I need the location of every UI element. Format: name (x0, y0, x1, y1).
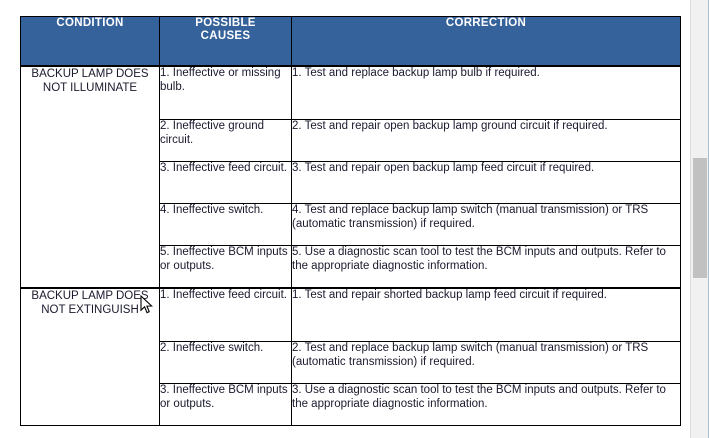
possible-cause-cell: 2. Ineffective ground circuit. (160, 120, 292, 162)
condition-cell: BACKUP LAMP DOES NOT ILLUMINATE (21, 66, 160, 288)
correction-cell: 2. Test and repair open backup lamp grou… (292, 120, 681, 162)
possible-cause-cell: 2. Ineffective switch. (160, 342, 292, 384)
correction-cell: 1. Test and repair shorted backup lamp f… (292, 288, 681, 342)
vertical-scrollbar[interactable] (690, 0, 709, 438)
column-header-possible-causes: POSSIBLE CAUSES (160, 17, 292, 67)
possible-cause-cell: 5. Ineffective BCM inputs or outputs. (160, 246, 292, 289)
diagnostic-table: CONDITION POSSIBLE CAUSES CORRECTION BAC… (20, 16, 681, 426)
possible-cause-cell: 1. Ineffective or missing bulb. (160, 66, 292, 120)
correction-cell: 3. Test and repair open backup lamp feed… (292, 162, 681, 204)
table-row: BACKUP LAMP DOES NOT ILLUMINATE 1. Ineff… (21, 66, 681, 120)
table-row: BACKUP LAMP DOES NOT EXTINGUISH 1. Ineff… (21, 288, 681, 342)
table-section-backup-lamp-does-not-extinguish: BACKUP LAMP DOES NOT EXTINGUISH 1. Ineff… (21, 288, 681, 426)
table-header: CONDITION POSSIBLE CAUSES CORRECTION (21, 17, 681, 67)
possible-cause-cell: 3. Ineffective feed circuit. (160, 162, 292, 204)
correction-cell: 4. Test and replace backup lamp switch (… (292, 204, 681, 246)
scrollbar-thumb[interactable] (693, 158, 707, 278)
possible-cause-cell: 3. Ineffective BCM inputs or outputs. (160, 384, 292, 426)
table-section-backup-lamp-does-not-illuminate: BACKUP LAMP DOES NOT ILLUMINATE 1. Ineff… (21, 66, 681, 288)
possible-cause-cell: 1. Ineffective feed circuit. (160, 288, 292, 342)
column-header-correction: CORRECTION (292, 17, 681, 67)
document-page: CONDITION POSSIBLE CAUSES CORRECTION BAC… (0, 0, 690, 438)
correction-cell: 1. Test and replace backup lamp bulb if … (292, 66, 681, 120)
condition-cell: BACKUP LAMP DOES NOT EXTINGUISH (21, 288, 160, 426)
correction-cell: 2. Test and replace backup lamp switch (… (292, 342, 681, 384)
column-header-condition: CONDITION (21, 17, 160, 67)
table-header-row: CONDITION POSSIBLE CAUSES CORRECTION (21, 17, 681, 67)
correction-cell: 3. Use a diagnostic scan tool to test th… (292, 384, 681, 426)
correction-cell: 5. Use a diagnostic scan tool to test th… (292, 246, 681, 289)
possible-cause-cell: 4. Ineffective switch. (160, 204, 292, 246)
